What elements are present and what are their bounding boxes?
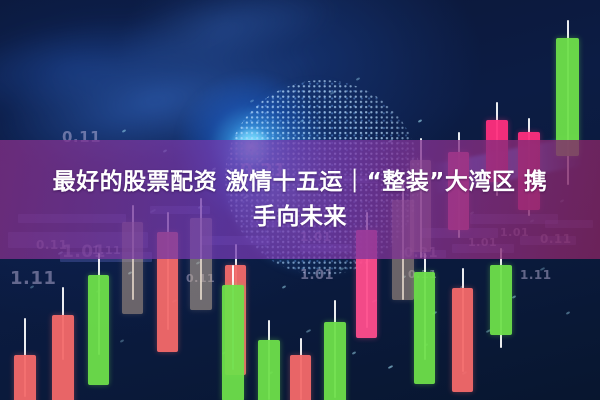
candlestick xyxy=(290,338,311,400)
headline-line-1: 最好的股票配资 激情十五运｜“整装”大湾区 携 xyxy=(53,165,548,200)
candlestick-body xyxy=(14,355,36,400)
candlestick-body xyxy=(490,265,512,335)
candlestick-body xyxy=(290,355,311,400)
stock-banner-image: 0.110.211.011.110.111.011.010.111.110.21… xyxy=(0,0,600,400)
candlestick-body xyxy=(324,322,346,400)
candlestick xyxy=(324,300,346,398)
candlestick xyxy=(490,248,512,348)
candlestick xyxy=(52,287,74,360)
candlestick xyxy=(258,320,280,400)
candlestick-body xyxy=(556,38,579,156)
candlestick-body xyxy=(88,275,109,385)
candlestick xyxy=(88,253,109,355)
candlestick-body xyxy=(222,285,244,400)
candlestick xyxy=(452,268,473,372)
candlestick-body xyxy=(414,272,435,384)
candlestick-body xyxy=(52,315,74,400)
candlestick-body xyxy=(452,288,473,392)
candlestick xyxy=(222,265,244,370)
candlestick-body xyxy=(258,340,280,400)
candlestick xyxy=(414,253,435,360)
page-title: 最好的股票配资 激情十五运｜“整装”大湾区 携 手向未来 xyxy=(0,140,600,259)
headline-line-2: 手向未来 xyxy=(253,200,347,235)
candlestick xyxy=(14,318,36,397)
